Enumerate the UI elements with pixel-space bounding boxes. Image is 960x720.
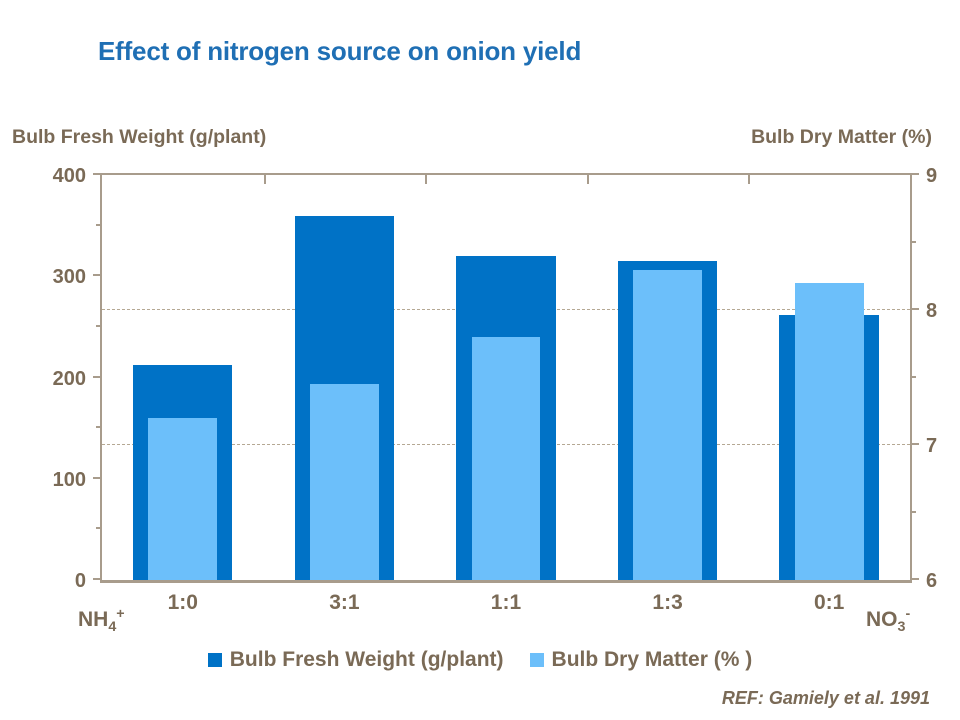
bar-bulb-dry-matter[interactable]	[472, 337, 541, 580]
right-axis-minor-tick	[910, 376, 916, 378]
legend-swatch-icon	[208, 653, 222, 667]
x-axis-tick	[748, 175, 750, 184]
right-axis-minor-tick	[910, 511, 916, 513]
page-title: Effect of nitrogen source on onion yield	[98, 36, 581, 67]
left-axis-tick-label: 300	[53, 266, 86, 289]
left-axis-tick-label: 200	[53, 368, 86, 391]
x-axis-category-label: 3:1	[264, 591, 426, 615]
left-axis-title: Bulb Fresh Weight (g/plant)	[12, 126, 266, 149]
bar-bulb-dry-matter[interactable]	[633, 270, 702, 581]
bar-group: 3:1	[264, 175, 426, 580]
bar-bulb-dry-matter[interactable]	[148, 418, 217, 580]
right-axis-minor-tick	[910, 241, 916, 243]
bar-bulb-dry-matter[interactable]	[795, 283, 864, 580]
x-axis-category-label: 1:1	[425, 591, 587, 615]
right-axis-tick-label: 7	[926, 435, 937, 458]
right-axis-title: Bulb Dry Matter (%)	[751, 126, 932, 149]
bar-group: 1:3	[587, 175, 749, 580]
left-axis-tick-label: 0	[75, 570, 86, 593]
left-axis-tick	[93, 578, 102, 580]
x-axis-tick	[587, 175, 589, 184]
bar-group: 0:1	[748, 175, 910, 580]
left-axis-tick	[93, 376, 102, 378]
right-axis-tick	[910, 173, 919, 175]
right-axis-tick	[910, 578, 919, 580]
left-axis-tick	[93, 173, 102, 175]
x-axis-category-label: 1:0	[102, 591, 264, 615]
left-axis-tick-label: 100	[53, 469, 86, 492]
right-axis-tick-label: 8	[926, 300, 937, 323]
bar-bulb-dry-matter[interactable]	[310, 384, 379, 580]
axis-endpoint-ammonium: NH4+	[78, 606, 125, 635]
x-axis-tick	[264, 175, 266, 184]
bar-group: 1:1	[425, 175, 587, 580]
right-axis-tick	[910, 308, 919, 310]
right-axis-tick-label: 9	[926, 165, 937, 188]
x-axis-category-label: 1:3	[587, 591, 749, 615]
axis-endpoint-nitrate: NO3-	[866, 606, 910, 635]
right-axis-tick-label: 6	[926, 570, 937, 593]
legend-label: Bulb Fresh Weight (g/plant)	[230, 648, 504, 672]
legend-entry[interactable]: Bulb Fresh Weight (g/plant)	[208, 648, 504, 672]
right-axis-tick	[910, 443, 919, 445]
legend-label: Bulb Dry Matter (% )	[552, 648, 753, 672]
legend-swatch-icon	[530, 653, 544, 667]
reference-citation: REF: Gamiely et al. 1991	[722, 688, 930, 709]
left-axis-tick	[93, 477, 102, 479]
legend: Bulb Fresh Weight (g/plant)Bulb Dry Matt…	[0, 648, 960, 672]
plot-area: 010020030040067891:03:11:11:30:1	[100, 173, 912, 583]
x-axis-tick	[425, 175, 427, 184]
left-axis-tick-label: 400	[53, 165, 86, 188]
legend-entry[interactable]: Bulb Dry Matter (% )	[530, 648, 753, 672]
bar-group: 1:0	[102, 175, 264, 580]
left-axis-tick	[93, 274, 102, 276]
